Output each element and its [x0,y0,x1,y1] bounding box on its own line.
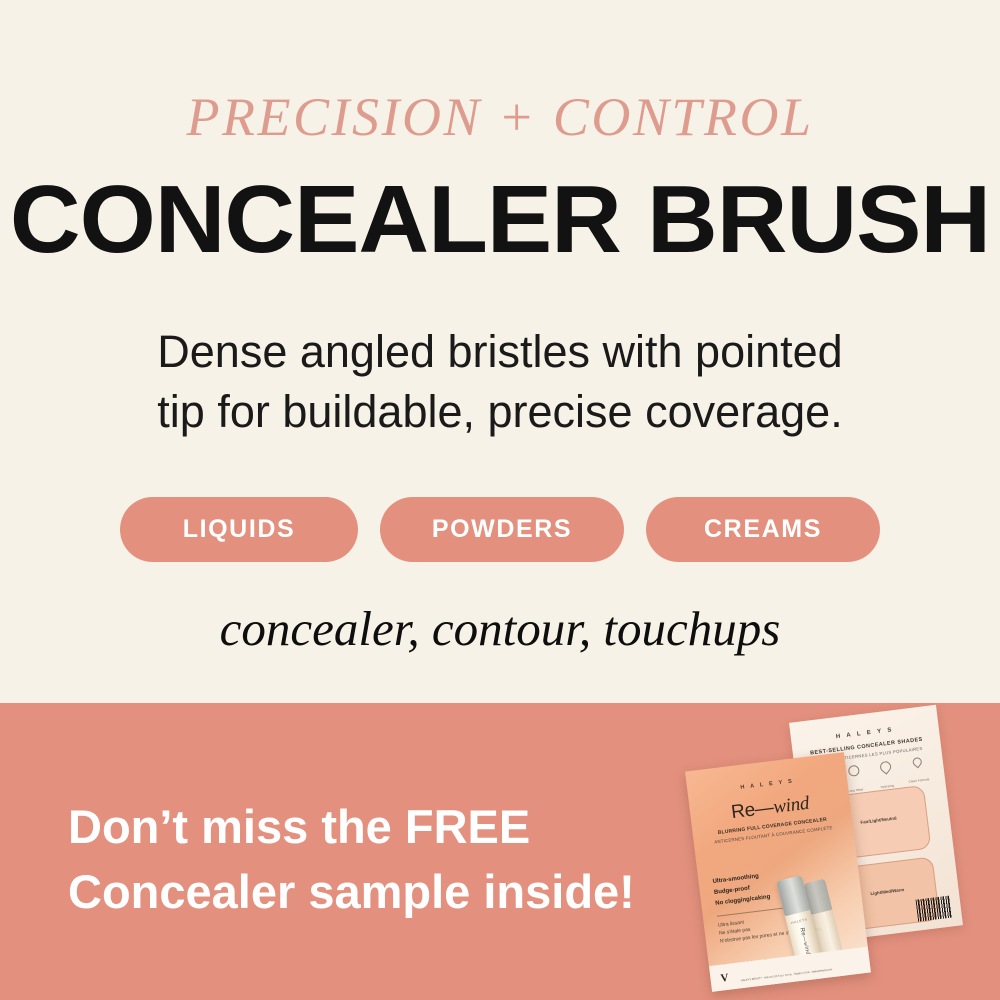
rewind-logo-re: Re— [730,797,775,823]
product-marketing-graphic: PRECISION + CONTROL CONCEALER BRUSH Dens… [0,0,1000,1000]
promo-line-1: Don’t miss the FREE [68,795,708,860]
subhead-line-2: tip for buildable, precise coverage. [60,382,940,442]
clock-icon-glyph [847,765,859,777]
vegan-icon: V [720,972,729,985]
use-case-pill-row: LIQUIDS POWDERS CREAMS [0,497,1000,562]
droplet-icon-glyph [877,759,892,774]
tube-brand: HALEYS [786,916,812,926]
concealer-sample-card: H A L E Y S Re—wind BLURRING FULL COVERA… [685,752,871,992]
rewind-logo-wind: wind [772,793,810,818]
hero-section: PRECISION + CONTROL CONCEALER BRUSH Dens… [0,0,1000,703]
page-title: CONCEALER BRUSH [0,172,1000,268]
heart-icon: Clean Formula [904,756,932,790]
pill-powders[interactable]: POWDERS [380,497,624,562]
usage-tagline: concealer, contour, touchups [0,600,1000,657]
tube-label-re: Re— [798,927,807,943]
barcode-icon [916,896,952,922]
product-packaging-photo: H A L E Y S BEST-SELLING CONCEALER SHADE… [690,703,1000,1000]
promo-message: Don’t miss the FREE Concealer sample ins… [68,795,708,925]
subhead: Dense angled bristles with pointed tip f… [60,322,940,442]
tube-label: Re—wind [798,927,810,955]
heart-icon-label: Clean Formula [908,777,929,784]
subhead-line-1: Dense angled bristles with pointed [60,322,940,382]
pill-liquids[interactable]: LIQUIDS [120,497,358,562]
eyebrow-text: PRECISION + CONTROL [0,86,1000,148]
promo-line-2: Concealer sample inside! [68,860,708,925]
promo-band: Don’t miss the FREE Concealer sample ins… [0,703,1000,1000]
pill-creams[interactable]: CREAMS [646,497,880,562]
heart-icon-glyph [912,757,922,767]
